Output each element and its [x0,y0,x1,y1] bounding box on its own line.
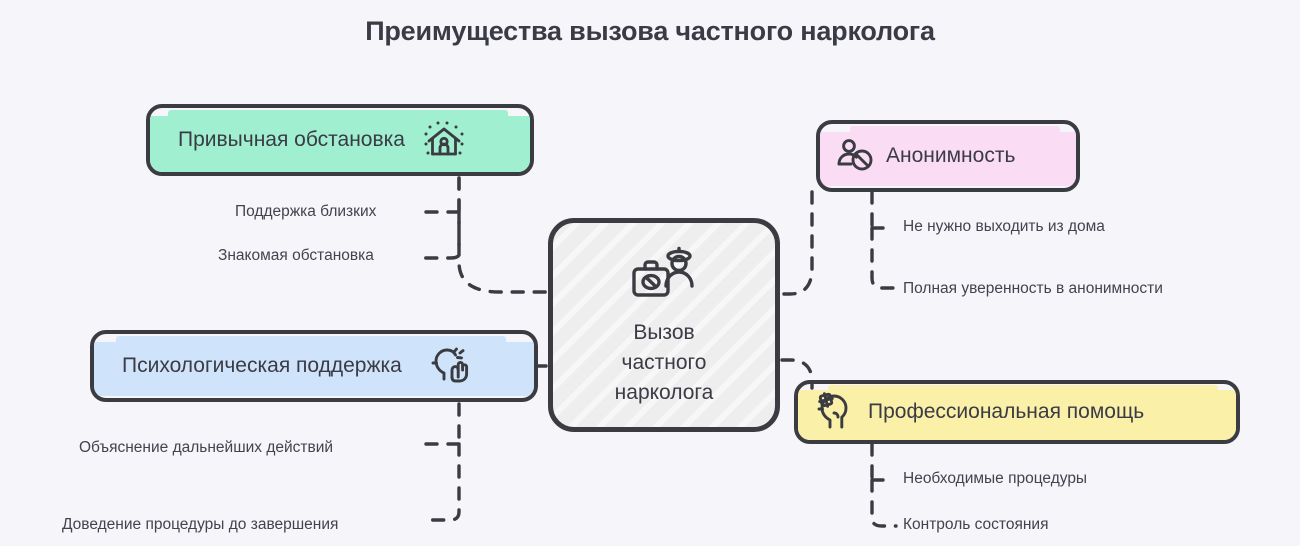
head-medical-cross-icon [812,389,858,435]
prof-node-highlight-top [828,385,1218,397]
branch-node-professional[interactable]: Профессиональная помощь [794,380,1240,444]
sub-label-home-2: Знакомая обстановка [218,247,374,265]
branch-label-psychological: Психологическая поддержка [122,354,402,378]
branch-node-home[interactable]: Привычная обстановка [146,104,534,176]
central-label-line-3: нарколога [615,378,714,408]
central-label-line-1: Вызов [615,318,714,348]
sub-label-professional-2: Контроль состояния [903,516,1048,534]
branch-label-professional: Профессиональная помощь [868,400,1144,424]
branch-node-psychological[interactable]: Психологическая поддержка [90,330,538,402]
anon-node-highlight-top [850,126,1060,138]
sub-label-psychological-2: Доведение процедуры до завершения [62,516,338,534]
page-title: Преимущества вызова частного нарколога [0,16,1300,47]
sub-label-anonymity-2: Полная уверенность в анонимности [903,280,1163,298]
central-node-label: Вызов частного нарколога [615,318,714,408]
central-node[interactable]: Вызов частного нарколога [548,218,780,432]
sub-label-home-1: Поддержка близких [235,203,376,221]
wire-home-to-center [459,178,546,292]
house-person-icon [421,117,467,163]
wire-anon-to-center [782,192,812,294]
branch-label-home: Привычная обстановка [178,128,405,152]
branch-node-anonymity[interactable]: Анонимность [816,120,1080,192]
sub-label-professional-1: Необходимые процедуры [903,470,1087,488]
anonymous-person-icon [832,133,878,179]
wire-anon-children [872,192,896,288]
doctor-bag-icon [625,242,703,308]
wire-home-children [420,178,459,258]
central-label-line-2: частного [615,348,714,378]
sub-label-psychological-1: Объяснение дальнейших действий [79,439,333,457]
wire-psych-children [420,404,459,520]
sub-label-anonymity-1: Не нужно выходить из дома [903,218,1105,236]
wire-prof-children [872,444,896,526]
head-hand-icon [424,343,470,389]
mindmap-canvas: Преимущества вызова частного нарколога [0,0,1300,546]
branch-label-anonymity: Анонимность [886,144,1015,168]
